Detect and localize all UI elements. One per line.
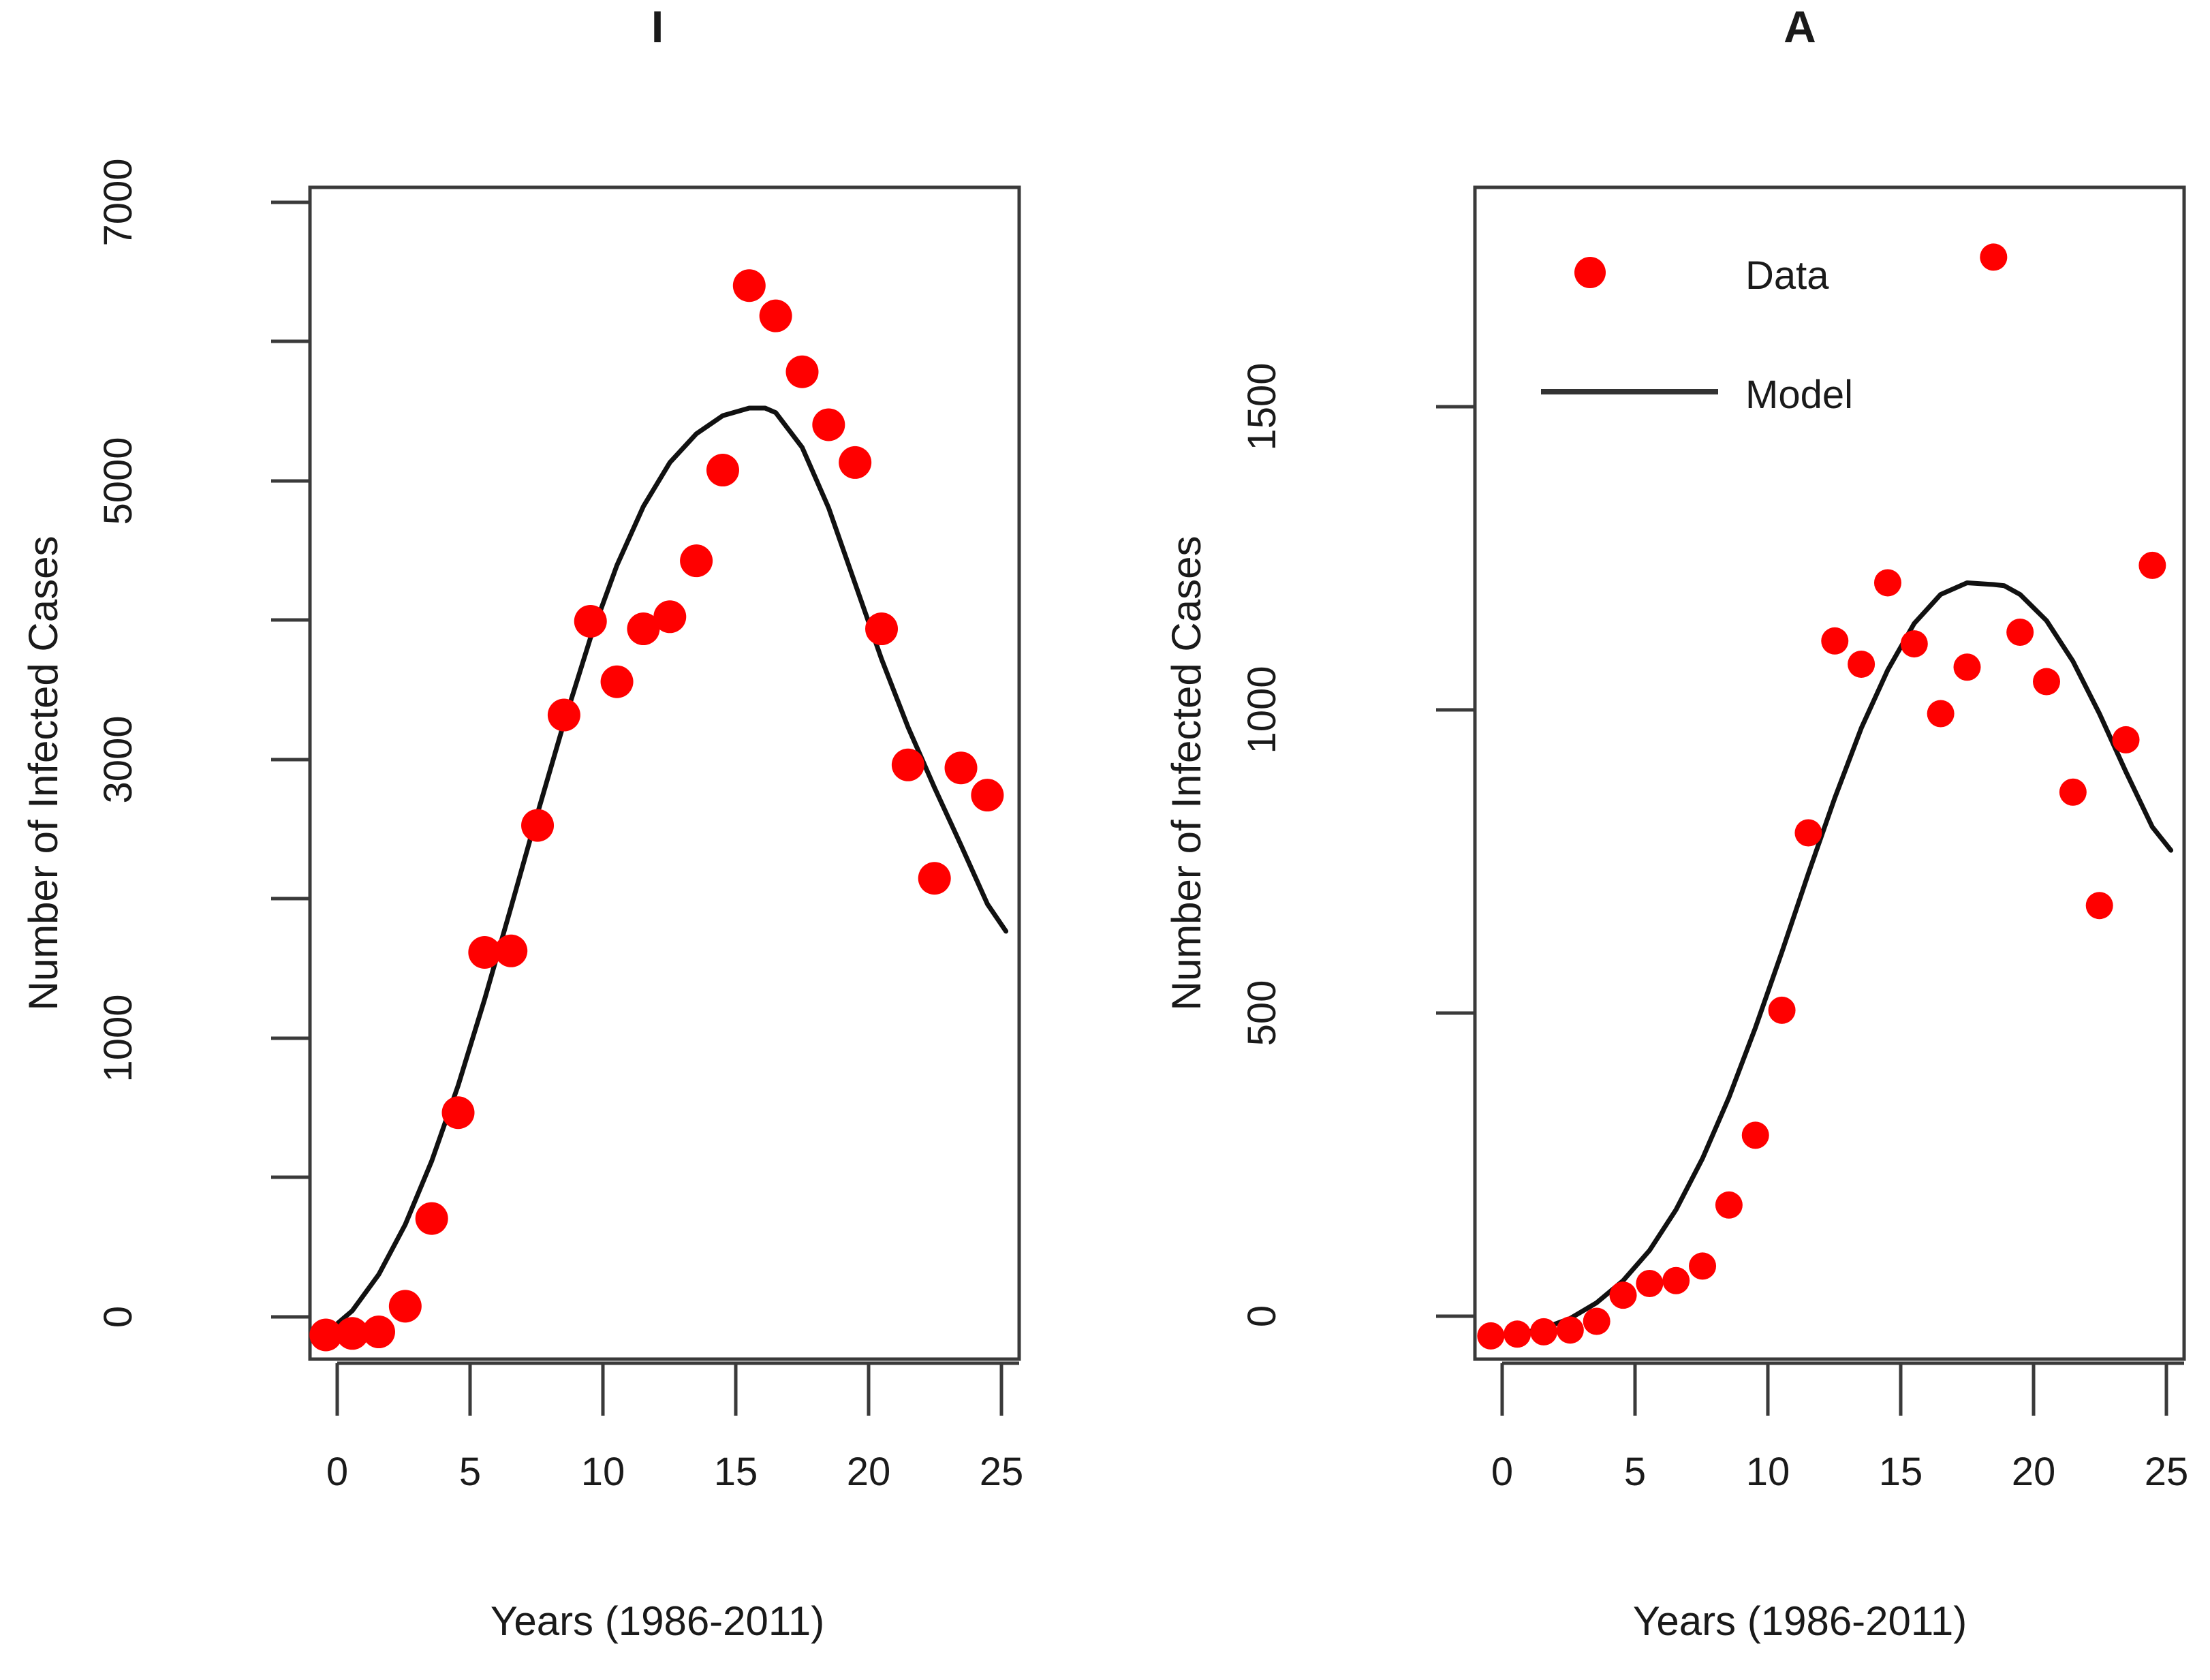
figure-root: I Number of Infected Cases Years (1986-2… xyxy=(0,0,2210,1680)
x-tick-label: 10 xyxy=(581,1450,625,1494)
data-point xyxy=(2006,619,2034,646)
data-point xyxy=(2138,552,2166,579)
x-tick-label: 5 xyxy=(459,1450,481,1494)
panel-background xyxy=(1105,0,2210,1680)
data-point xyxy=(706,454,739,486)
data-point xyxy=(892,749,924,781)
x-tick-label: 5 xyxy=(1624,1450,1646,1494)
data-point xyxy=(389,1290,422,1322)
y-tick-label: 7000 xyxy=(96,158,140,246)
data-point xyxy=(1477,1322,1504,1350)
data-point xyxy=(918,862,951,895)
data-point xyxy=(1953,653,1980,681)
x-tick-label: 0 xyxy=(1491,1450,1513,1494)
data-point xyxy=(1504,1320,1531,1348)
data-point xyxy=(1794,819,1822,846)
data-point xyxy=(1636,1270,1663,1297)
data-point xyxy=(945,751,978,784)
data-point xyxy=(733,269,766,302)
y-axis-title: Number of Infected Cases xyxy=(1164,535,1209,1010)
panel-title: A xyxy=(1784,1,1816,52)
data-point xyxy=(1769,997,1796,1024)
y-tick-label: 1500 xyxy=(1240,362,1284,450)
data-point xyxy=(2033,668,2060,696)
x-tick-label: 10 xyxy=(1746,1450,1790,1494)
y-axis-title: Number of Infected Cases xyxy=(20,535,66,1010)
data-point xyxy=(1583,1308,1610,1335)
data-point xyxy=(1848,651,1875,678)
data-point xyxy=(416,1202,448,1235)
y-tick-label: 0 xyxy=(1240,1305,1284,1327)
y-tick-label: 5000 xyxy=(96,437,140,525)
x-tick-label: 0 xyxy=(326,1450,348,1494)
data-point xyxy=(1557,1316,1584,1343)
panel-I: I Number of Infected Cases Years (1986-2… xyxy=(0,0,1105,1680)
data-point xyxy=(1821,627,1848,655)
data-point xyxy=(653,600,686,633)
panel-A-svg: A Number of Infected Cases Years (1986-2… xyxy=(1105,0,2210,1680)
data-point xyxy=(574,605,607,638)
x-tick-label: 25 xyxy=(2145,1450,2189,1494)
data-point xyxy=(2113,726,2140,753)
y-tick-label: 1000 xyxy=(96,994,140,1082)
data-point xyxy=(839,446,871,479)
x-tick-label: 15 xyxy=(714,1450,758,1494)
legend-label-model: Model xyxy=(1745,373,1853,417)
data-point xyxy=(521,809,554,842)
data-point xyxy=(1874,569,1901,596)
data-point xyxy=(1927,700,1955,728)
data-point xyxy=(1610,1281,1637,1309)
y-tick-label: 1000 xyxy=(1240,666,1284,753)
data-point xyxy=(1662,1267,1690,1294)
x-axis-title: Years (1986-2011) xyxy=(1633,1598,1967,1644)
x-tick-label: 25 xyxy=(980,1450,1024,1494)
data-point xyxy=(1742,1121,1769,1149)
legend-data-marker xyxy=(1574,257,1606,288)
data-point xyxy=(548,699,580,732)
x-tick-label: 20 xyxy=(2012,1450,2056,1494)
data-point xyxy=(1689,1252,1716,1279)
y-tick-label: 0 xyxy=(96,1306,140,1328)
data-point xyxy=(1715,1192,1743,1219)
x-tick-label: 15 xyxy=(1879,1450,1923,1494)
panel-I-svg: I Number of Infected Cases Years (1986-2… xyxy=(0,0,1105,1680)
data-point xyxy=(680,544,713,577)
data-point xyxy=(865,612,898,645)
data-point xyxy=(442,1096,475,1129)
data-point xyxy=(495,935,527,967)
panel-background xyxy=(0,0,1105,1680)
data-point xyxy=(971,779,1003,811)
data-point xyxy=(2059,779,2087,806)
legend-label-data: Data xyxy=(1745,253,1829,298)
data-point xyxy=(760,300,792,332)
data-point xyxy=(362,1316,395,1348)
data-point xyxy=(2086,892,2113,919)
data-point xyxy=(812,408,845,441)
y-tick-label: 3000 xyxy=(96,715,140,803)
x-tick-label: 20 xyxy=(847,1450,891,1494)
panel-title: I xyxy=(651,1,664,52)
y-tick-label: 500 xyxy=(1240,980,1284,1046)
data-point xyxy=(1901,630,1928,657)
data-point xyxy=(601,666,634,698)
x-axis-title: Years (1986-2011) xyxy=(491,1598,824,1644)
data-point xyxy=(1980,243,2007,270)
data-point xyxy=(785,356,818,388)
data-point xyxy=(1530,1318,1557,1345)
panel-A: A Number of Infected Cases Years (1986-2… xyxy=(1105,0,2210,1680)
